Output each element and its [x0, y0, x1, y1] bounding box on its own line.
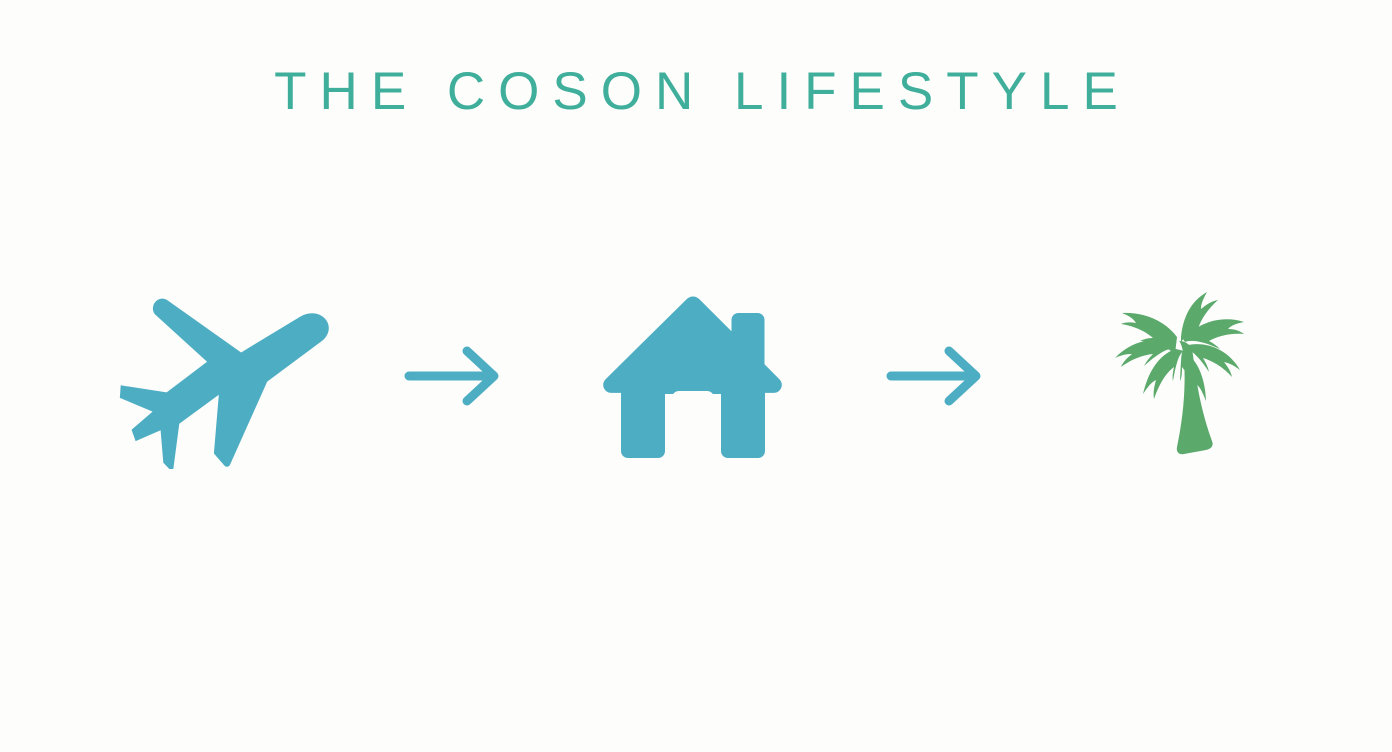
page-title: THE COSON LIFESTYLE: [261, 62, 1131, 122]
lifestyle-journey-row: [0, 276, 1392, 476]
journey-step-relax: [1076, 276, 1291, 476]
airplane-icon: [107, 284, 337, 469]
journey-connector-2: [876, 346, 996, 406]
page-title-container: THE COSON LIFESTYLE: [0, 62, 1392, 122]
arrow-right-icon: [404, 346, 504, 406]
house-icon: [600, 294, 786, 459]
poster-canvas: THE COSON LIFESTYLE: [0, 0, 1392, 752]
journey-connector-1: [394, 346, 514, 406]
journey-step-fly: [102, 276, 342, 476]
palm-tree-icon: [1093, 289, 1273, 464]
arrow-right-icon: [886, 346, 986, 406]
journey-step-home: [588, 276, 798, 476]
